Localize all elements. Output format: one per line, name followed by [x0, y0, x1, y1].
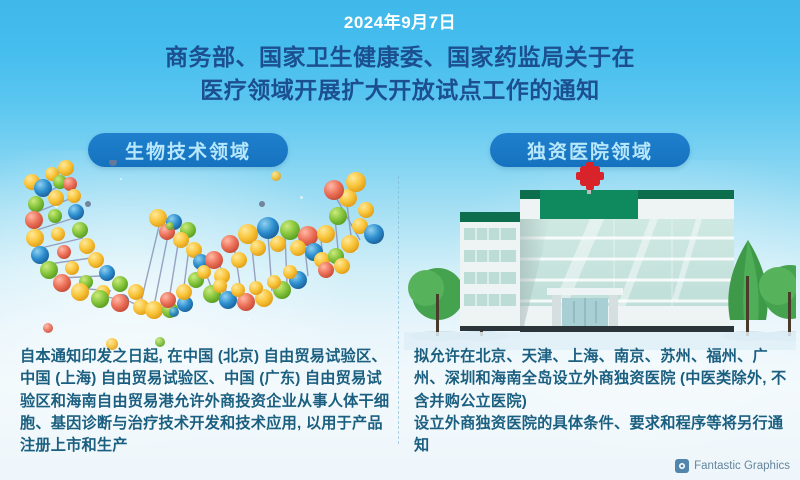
dna-helix-illustration: [8, 160, 390, 350]
camera-badge-icon: [675, 459, 689, 473]
watermark: Fantastic Graphics: [675, 459, 790, 473]
hospital-left-wing: [460, 212, 520, 331]
column-divider: [398, 176, 399, 444]
paragraph: 自本通知印发之日起, 在中国 (北京) 自由贸易试验区、中国 (上海) 自由贸易…: [20, 346, 392, 458]
page-title: 商务部、国家卫生健康委、国家药监局关于在 医疗领域开展扩大开放试点工作的通知: [0, 41, 800, 106]
header: 2024年9月7日 商务部、国家卫生健康委、国家药监局关于在 医疗领域开展扩大开…: [0, 0, 800, 107]
title-line-1: 商务部、国家卫生健康委、国家药监局关于在: [0, 41, 800, 74]
paragraph: 拟允许在北京、天津、上海、南京、苏州、福州、广州、深圳和海南全岛设立外商独资医院…: [414, 346, 790, 413]
infographic-canvas: 2024年9月7日 商务部、国家卫生健康委、国家药监局关于在 医疗领域开展扩大开…: [0, 0, 800, 480]
title-line-2: 医疗领域开展扩大开放试点工作的通知: [0, 74, 800, 107]
hospital-illustration: [404, 160, 796, 350]
red-cross-sign: [576, 162, 604, 194]
hospital-description: 拟允许在北京、天津、上海、南京、苏州、福州、广州、深圳和海南全岛设立外商独资医院…: [414, 346, 790, 458]
publication-date: 2024年9月7日: [0, 13, 800, 33]
hospital-main-block: [520, 190, 734, 332]
watermark-label: Fantastic Graphics: [694, 460, 790, 472]
biotech-description: 自本通知印发之日起, 在中国 (北京) 自由贸易试验区、中国 (上海) 自由贸易…: [20, 346, 392, 458]
paragraph: 设立外商独资医院的具体条件、要求和程序等将另行通知: [414, 413, 790, 458]
